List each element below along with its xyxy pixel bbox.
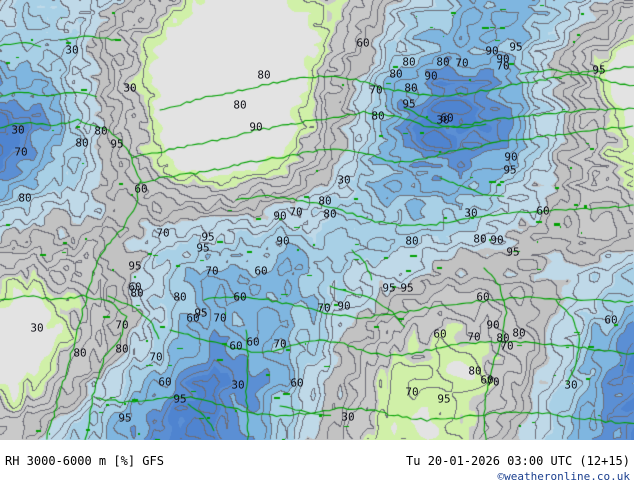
contour-label: 95	[509, 42, 522, 53]
contour-label: 80	[115, 344, 128, 355]
contour-label: 30	[231, 380, 244, 391]
contour-label: 80	[318, 196, 331, 207]
contour-label: 90	[424, 71, 437, 82]
contour-label: 60	[356, 38, 369, 49]
contour-label: 70	[486, 377, 499, 388]
provider-credit[interactable]: ©weatheronline.co.uk	[498, 470, 630, 483]
contour-label: 30	[65, 45, 78, 56]
contour-label: 80	[473, 234, 486, 245]
contour-label: 70	[317, 303, 330, 314]
contour-label: 30	[11, 125, 24, 136]
contour-label: 80	[130, 288, 143, 299]
valid-time-label: Tu 20-01-2026 03:00 UTC (12+15)	[406, 454, 630, 468]
contour-label: 70	[205, 266, 218, 277]
contour-label: 95	[173, 394, 186, 405]
contour-label: 90	[273, 211, 286, 222]
contour-label: 95	[402, 99, 415, 110]
contour-label: 70	[467, 332, 480, 343]
contour-label: 70	[273, 339, 286, 350]
contour-label: 80	[75, 138, 88, 149]
contour-label: 70	[156, 228, 169, 239]
contour-label: 90	[504, 152, 517, 163]
contour-label: 95	[437, 394, 450, 405]
contour-label: 80	[389, 69, 402, 80]
contour-label: 60	[290, 378, 303, 389]
contour-label: 60	[134, 184, 147, 195]
contour-label: 80	[436, 57, 449, 68]
contour-label: 95	[196, 243, 209, 254]
contour-label: 70	[405, 387, 418, 398]
contour-label: 80	[73, 348, 86, 359]
contour-label: 30	[564, 380, 577, 391]
contour-label: 90	[486, 320, 499, 331]
contour-label: 60	[536, 206, 549, 217]
map-panel[interactable]: 3030608080809080709095907095807080958060…	[0, 0, 634, 440]
contour-label: 95	[400, 283, 413, 294]
contour-label: 70	[115, 320, 128, 331]
contour-label: 60	[246, 337, 259, 348]
contour-label: 95	[503, 165, 516, 176]
contour-label: 70	[369, 85, 382, 96]
weather-map-page: 3030608080809080709095907095807080958060…	[0, 0, 634, 490]
contour-label: 70	[455, 58, 468, 69]
contour-label: 80	[402, 57, 415, 68]
contour-label: 60	[254, 266, 267, 277]
contour-label: 80	[371, 111, 384, 122]
contour-label: 70	[14, 147, 27, 158]
contour-label: 60	[604, 315, 617, 326]
contour-label: 70	[289, 207, 302, 218]
contour-label: 70	[149, 352, 162, 363]
contour-label: 30	[123, 83, 136, 94]
contour-label: 80	[405, 236, 418, 247]
contour-label: 80	[18, 193, 31, 204]
contour-label: 70	[213, 313, 226, 324]
contour-label: 95	[110, 139, 123, 150]
contour-label: 95	[194, 308, 207, 319]
relative-humidity-map-canvas[interactable]	[0, 0, 634, 440]
contour-label: 80	[323, 209, 336, 220]
contour-label: 80	[512, 328, 525, 339]
contour-label: 95	[118, 413, 131, 424]
contour-label: 60	[476, 292, 489, 303]
contour-label: 80	[496, 333, 509, 344]
contour-label: 30	[464, 208, 477, 219]
contour-label: 30	[436, 115, 449, 126]
contour-label: 80	[257, 70, 270, 81]
contour-label: 70	[496, 61, 509, 72]
contour-label: 90	[337, 301, 350, 312]
contour-label: 80	[94, 126, 107, 137]
contour-label: 80	[404, 83, 417, 94]
map-footer: RH 3000-6000 m [%] GFS Tu 20-01-2026 03:…	[0, 440, 634, 490]
contour-label: 90	[490, 235, 503, 246]
parameter-label: RH 3000-6000 m [%] GFS	[5, 454, 164, 468]
contour-label: 30	[30, 323, 43, 334]
contour-label: 60	[233, 292, 246, 303]
contour-label: 60	[433, 329, 446, 340]
contour-label: 80	[173, 292, 186, 303]
contour-label: 60	[158, 377, 171, 388]
contour-label: 60	[229, 341, 242, 352]
contour-label: 90	[276, 236, 289, 247]
contour-label: 95	[506, 247, 519, 258]
contour-label: 95	[592, 65, 605, 76]
contour-label: 30	[337, 175, 350, 186]
contour-label: 80	[233, 100, 246, 111]
contour-label: 95	[128, 261, 141, 272]
contour-label: 30	[341, 412, 354, 423]
contour-label: 90	[249, 122, 262, 133]
contour-label: 95	[382, 283, 395, 294]
